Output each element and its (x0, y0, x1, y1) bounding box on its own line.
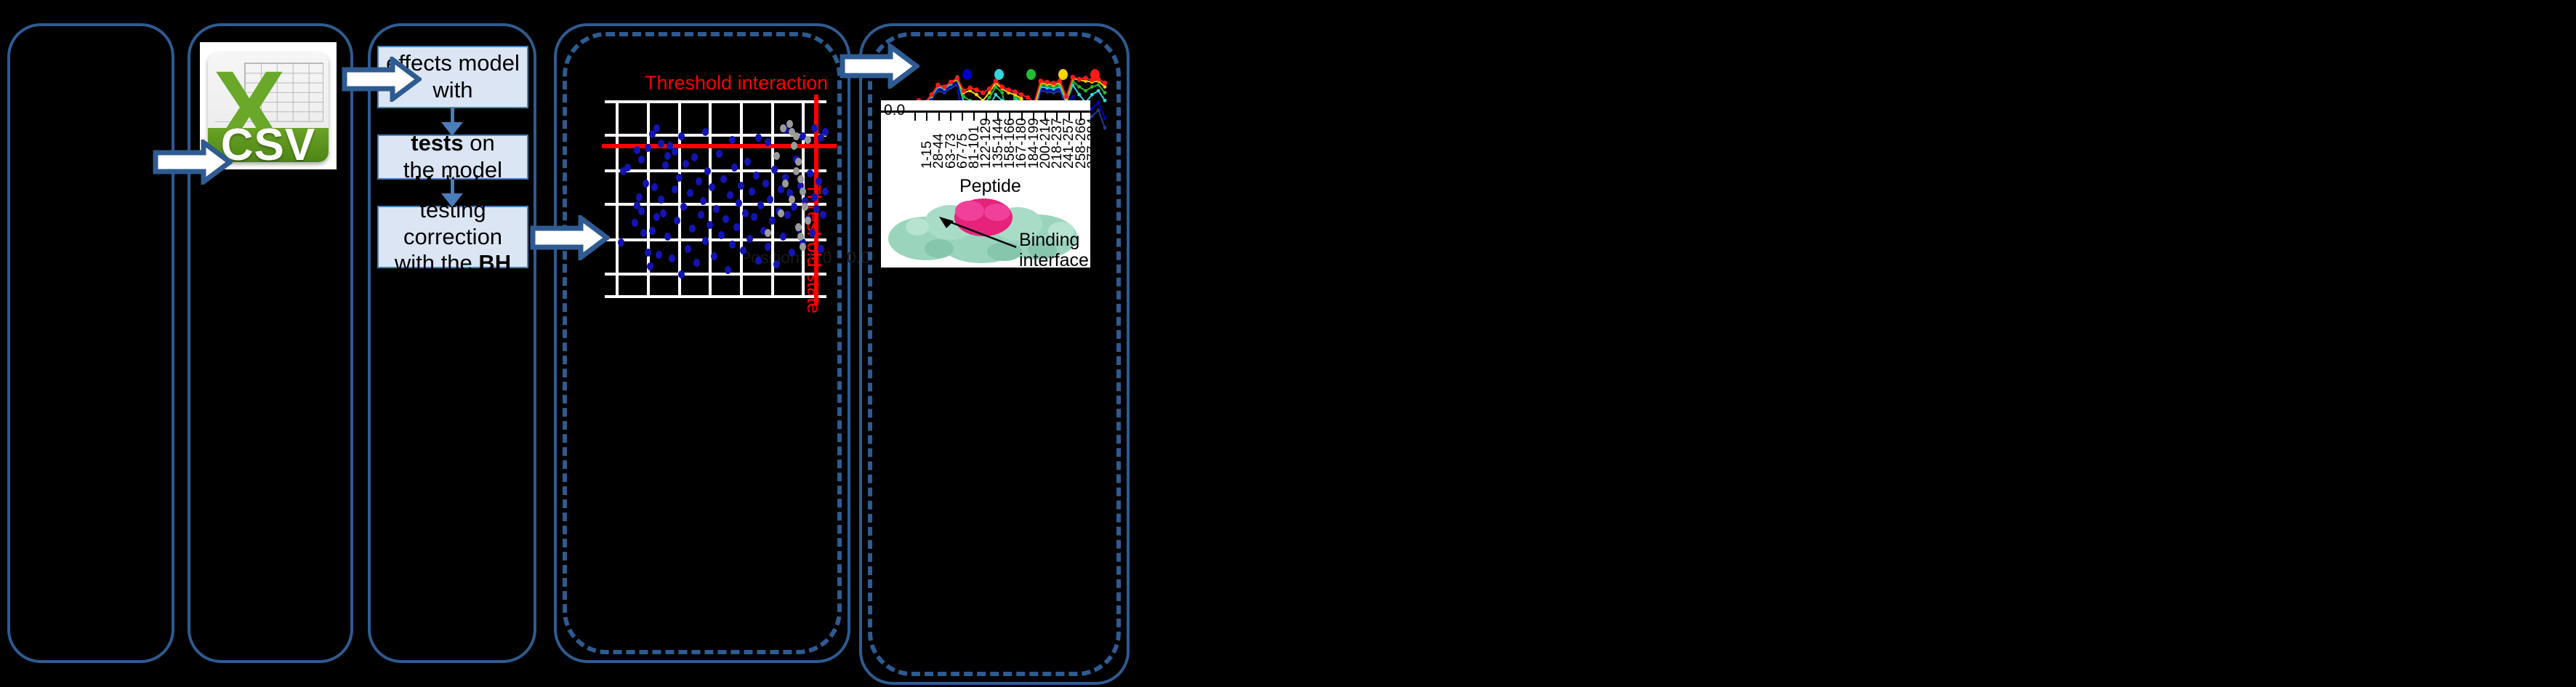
peptide-data-point (967, 86, 972, 90)
volcano-point (795, 158, 802, 166)
arrow-to-analysis (342, 57, 422, 102)
peptide-data-point (1090, 114, 1094, 118)
volcano-point (800, 243, 806, 251)
peptide-data-point (974, 87, 978, 92)
volcano-point (678, 132, 685, 140)
volcano-plot-area (605, 100, 826, 298)
volcano-point (658, 196, 664, 204)
volcano-point (647, 262, 653, 270)
volcano-point (767, 196, 773, 204)
peptide-tick (926, 113, 927, 121)
volcano-point (696, 177, 702, 185)
peptide-data-point (962, 95, 965, 98)
volcano-point (736, 199, 742, 207)
volcano-plot: Threshold interaction Threshold state Po… (563, 32, 842, 654)
peptide-data-point (1097, 101, 1100, 105)
peptide-tick (914, 113, 916, 121)
volcano-point (805, 136, 811, 144)
peptide-axis-labels: 1-1528-4463-7367-7581-101122-129135-1441… (881, 124, 1090, 174)
peptide-data-point (1103, 91, 1107, 95)
volcano-point (780, 124, 786, 132)
csv-format-label: CSV (221, 119, 315, 162)
peptide-legend-dot-3 (1026, 69, 1036, 80)
peptide-data-point (1090, 93, 1094, 97)
volcano-point (786, 120, 793, 128)
volcano-point (800, 188, 806, 196)
volcano-point (702, 237, 709, 245)
volcano-point (809, 229, 816, 237)
volcano-point (795, 223, 802, 231)
volcano-point (765, 138, 771, 146)
peptide-data-point (1090, 107, 1094, 111)
peptide-data-point (987, 87, 991, 91)
peptide-tick (938, 113, 940, 121)
peptide-data-point (975, 93, 978, 97)
peptide-data-point (988, 91, 991, 95)
peptide-tick (962, 113, 963, 121)
volcano-point (751, 213, 757, 221)
volcano-point (640, 229, 647, 237)
connector-2-arrowhead (441, 193, 463, 207)
volcano-point (727, 191, 733, 199)
volcano-point (789, 249, 795, 257)
volcano-point (740, 246, 746, 254)
arrow-to-volcano (530, 215, 610, 260)
volcano-point (676, 174, 683, 182)
peptide-data-point (1064, 95, 1068, 99)
volcano-point (689, 225, 696, 233)
peptide-data-point (994, 93, 998, 97)
volcano-point (643, 180, 649, 188)
peptide-data-point (1103, 126, 1107, 129)
binding-interface-label: Binding interface (1019, 230, 1089, 268)
peptide-legend-dot-2 (994, 69, 1004, 80)
peptide-data-point (1103, 85, 1107, 89)
volcano-point (731, 164, 738, 172)
peptide-data-point (1084, 89, 1087, 92)
volcano-point (645, 144, 651, 152)
volcano-point (672, 185, 678, 193)
peptide-data-point (962, 89, 966, 93)
volcano-point (742, 209, 749, 217)
arrow-to-results (840, 44, 919, 89)
volcano-point (636, 193, 643, 201)
volcano-point (811, 124, 818, 132)
volcano-point (784, 211, 791, 219)
results-figure-card: 1-1528-4463-7367-7581-101122-129135-1441… (881, 100, 1090, 268)
peptide-data-point (1006, 87, 1010, 92)
volcano-point (713, 205, 720, 213)
volcano-point (691, 153, 698, 161)
volcano-point (687, 189, 693, 197)
peptide-data-point (1077, 93, 1081, 97)
peptide-legend (887, 69, 1112, 84)
peptide-data-point (981, 90, 985, 95)
peptide-data-point (1026, 95, 1030, 100)
volcano-point (793, 132, 800, 140)
volcano-point (782, 180, 789, 188)
volcano-point (720, 175, 727, 183)
multiple-testing-step: Multiple testingcorrection with the BH p… (377, 206, 528, 268)
peptide-tick-label: 277-284 (1085, 118, 1090, 169)
volcano-point (807, 169, 813, 177)
volcano-point (693, 259, 700, 267)
volcano-point (789, 196, 795, 204)
volcano-point (729, 136, 736, 144)
volcano-point (802, 203, 808, 211)
peptide-legend-dot-4 (1058, 69, 1068, 80)
connector-1-arrowhead (441, 122, 463, 136)
volcano-point (762, 180, 769, 188)
volcano-point (711, 252, 717, 260)
volcano-point (649, 227, 656, 235)
volcano-point (664, 152, 671, 160)
volcano-point (634, 146, 640, 154)
volcano-point (749, 188, 755, 196)
volcano-point (707, 221, 713, 229)
peptide-data-point (1071, 95, 1074, 98)
peptide-data-point (1090, 85, 1094, 89)
volcano-point (778, 209, 784, 217)
peptide-y-tick: 0.0 (884, 102, 905, 119)
volcano-point (653, 213, 660, 221)
volcano-point (649, 130, 656, 138)
volcano-point (813, 205, 820, 213)
volcano-point (765, 229, 771, 237)
peptide-data-point (1103, 99, 1107, 103)
volcano-point (755, 134, 762, 142)
volcano-point (757, 201, 764, 209)
volcano-point (773, 152, 780, 160)
volcano-point (632, 219, 638, 227)
volcano-point (811, 193, 818, 201)
peptide-data-point (1103, 116, 1107, 120)
peptide-data-point (1097, 89, 1100, 92)
volcano-point (645, 249, 651, 257)
volcano-point (685, 245, 691, 253)
volcano-point (805, 217, 811, 225)
peptide-data-point (1077, 85, 1081, 89)
volcano-point (718, 231, 725, 239)
peptide-data-point (1000, 91, 1004, 95)
peptide-data-point (1000, 84, 1005, 89)
volcano-point (651, 183, 658, 191)
peptide-legend-dot-1 (962, 69, 972, 80)
volcano-point (618, 238, 624, 246)
threshold-interaction-label: Threshold interaction (645, 72, 828, 95)
volcano-point (638, 207, 645, 215)
peptide-data-point (929, 92, 933, 97)
peptide-tick (973, 113, 975, 121)
volcano-point (738, 182, 744, 190)
volcano-point (683, 160, 689, 168)
peptide-data-point (1097, 108, 1100, 112)
volcano-point (765, 243, 771, 251)
volcano-point (793, 167, 800, 175)
volcano-point (773, 260, 780, 268)
volcano-point (678, 270, 685, 278)
volcano-point (674, 217, 680, 225)
volcano-point (733, 223, 740, 231)
volcano-point (791, 142, 797, 150)
volcano-point (638, 156, 645, 164)
volcano-point (816, 177, 822, 185)
input-panel (7, 23, 174, 663)
arrow-to-input (153, 140, 233, 185)
volcano-point (662, 161, 669, 169)
volcano-point (729, 241, 736, 249)
volcano-point (822, 128, 829, 136)
volcano-point (755, 257, 762, 265)
peptide-data-point (1019, 92, 1023, 97)
volcano-point (769, 217, 776, 225)
volcano-point (818, 245, 824, 253)
peptide-data-point (942, 84, 946, 89)
volcano-point (744, 158, 751, 166)
peptide-data-point (1097, 83, 1100, 87)
volcano-point (660, 209, 667, 217)
volcano-point (723, 215, 729, 223)
volcano-point (672, 148, 678, 156)
volcano-point (753, 172, 760, 180)
peptide-data-point (988, 96, 991, 100)
volcano-point (709, 183, 715, 191)
volcano-point (669, 254, 675, 262)
volcano-point (771, 166, 778, 174)
peptide-tick (950, 113, 951, 121)
volcano-point (822, 188, 829, 196)
volcano-point (656, 251, 662, 259)
volcano-point (698, 211, 704, 219)
peptide-data-point (1013, 89, 1017, 94)
volcano-point (820, 211, 826, 219)
volcano-point (716, 150, 723, 158)
volcano-point (680, 203, 687, 211)
peptide-legend-dot-5 (1090, 69, 1100, 80)
volcano-point (791, 203, 797, 211)
